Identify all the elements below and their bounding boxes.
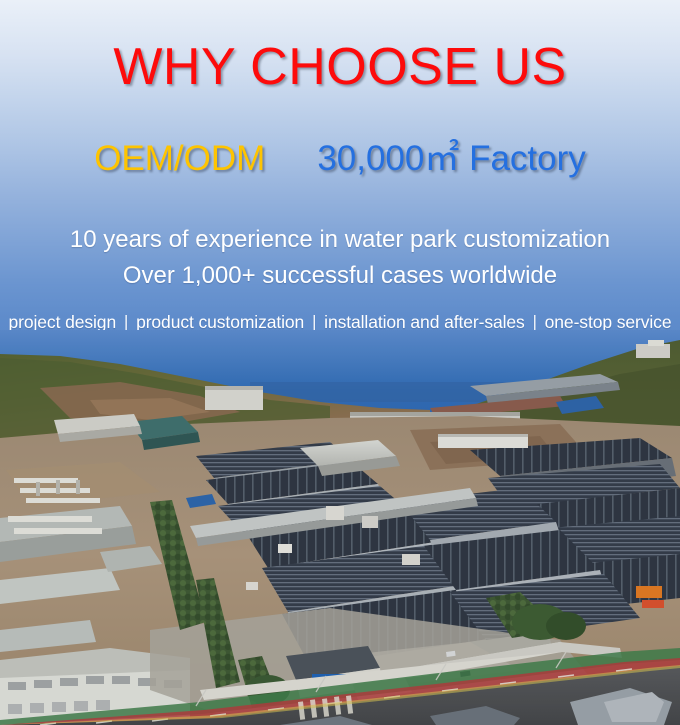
page-title: WHY CHOOSE US: [0, 36, 680, 98]
service-item-3: installation and after-sales: [324, 312, 525, 332]
service-item-4: one-stop service: [545, 312, 672, 332]
service-separator-3: |: [529, 312, 539, 332]
service-item-1: project design: [9, 312, 117, 332]
oem-odm-label: OEM/ODM: [94, 139, 265, 178]
service-item-2: product customization: [136, 312, 304, 332]
feature-line-1: 10 years of experience in water park cus…: [0, 224, 680, 256]
service-separator-1: |: [121, 312, 131, 332]
subline-row: OEM/ODM30,000㎡ Factory: [0, 136, 680, 182]
factory-area-label: 30,000㎡ Factory: [317, 139, 585, 178]
service-separator-2: |: [309, 312, 319, 332]
headline-panel: WHY CHOOSE US OEM/ODM30,000㎡ Factory 10 …: [0, 0, 680, 345]
feature-line-2: Over 1,000+ successful cases worldwide: [0, 260, 680, 292]
why-choose-us-banner: WHY CHOOSE US OEM/ODM30,000㎡ Factory 10 …: [0, 0, 680, 725]
factory-aerial-illustration: [0, 330, 680, 725]
factory-aerial-photo: [0, 330, 680, 725]
